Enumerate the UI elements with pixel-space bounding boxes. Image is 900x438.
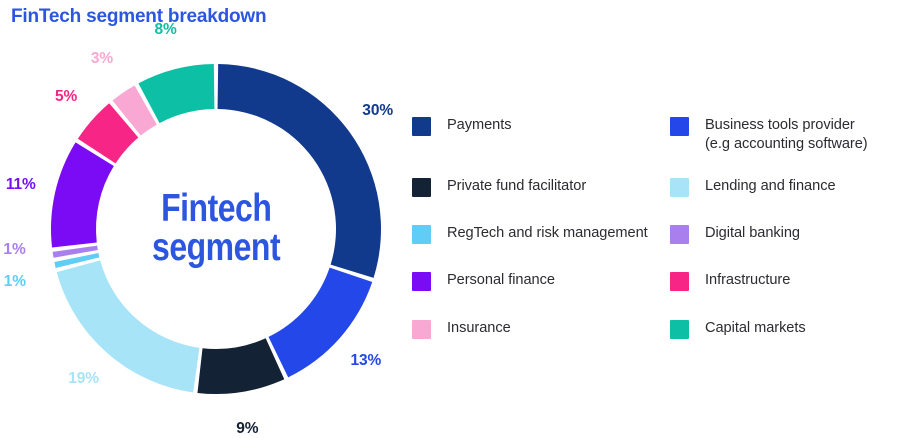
- legend-color-swatch: [412, 272, 431, 291]
- donut-slice[interactable]: [218, 64, 381, 278]
- legend-item-label: Insurance: [447, 319, 511, 338]
- legend-color-swatch: [412, 117, 431, 136]
- donut-chart: Fintech segment 30%13%9%19%1%1%11%5%3%8%: [48, 58, 384, 400]
- legend-item[interactable]: Infrastructure: [670, 271, 894, 291]
- slice-percentage-label: 30%: [362, 102, 393, 120]
- slice-percentage-label: 5%: [55, 88, 77, 106]
- slice-percentage-label: 8%: [155, 21, 177, 39]
- legend-item-label: Digital banking: [705, 224, 800, 243]
- legend-item-label: Business tools provider(e.g accounting s…: [705, 116, 868, 154]
- slice-percentage-label: 11%: [6, 176, 36, 194]
- legend-item-label: Lending and finance: [705, 177, 836, 196]
- legend-item-label: Private fund facilitator: [447, 177, 586, 196]
- legend-color-swatch: [670, 320, 689, 339]
- legend-item[interactable]: Personal finance: [412, 271, 662, 291]
- legend-color-swatch: [412, 178, 431, 197]
- slice-percentage-label: 1%: [3, 241, 25, 259]
- donut-slice[interactable]: [197, 338, 284, 394]
- legend-color-swatch: [670, 272, 689, 291]
- legend-item-label: RegTech and risk management: [447, 224, 648, 243]
- legend-item[interactable]: Private fund facilitator: [412, 177, 662, 197]
- legend-item[interactable]: RegTech and risk management: [412, 224, 662, 244]
- legend-item[interactable]: Digital banking: [670, 224, 894, 244]
- chart-legend: PaymentsPrivate fund facilitatorRegTech …: [412, 116, 894, 358]
- legend-item[interactable]: Capital markets: [670, 319, 894, 339]
- legend-item[interactable]: Insurance: [412, 319, 662, 339]
- donut-slices: [51, 64, 381, 394]
- donut-svg: [48, 58, 384, 400]
- slice-percentage-label: 9%: [236, 420, 258, 438]
- legend-item-label: Payments: [447, 116, 512, 135]
- legend-color-swatch: [670, 225, 689, 244]
- legend-color-swatch: [670, 178, 689, 197]
- donut-slice[interactable]: [51, 142, 114, 247]
- slice-percentage-label: 19%: [68, 370, 99, 388]
- legend-item[interactable]: Lending and finance: [670, 177, 894, 197]
- slice-percentage-label: 1%: [4, 273, 26, 291]
- legend-item[interactable]: Business tools provider(e.g accounting s…: [670, 116, 894, 154]
- slice-percentage-label: 3%: [91, 50, 113, 68]
- legend-item-label: Capital markets: [705, 319, 806, 338]
- legend-color-swatch: [412, 320, 431, 339]
- slice-percentage-label: 13%: [351, 352, 382, 370]
- legend-color-swatch: [670, 117, 689, 136]
- page-title: FinTech segment breakdown: [11, 6, 266, 28]
- legend-item-label: Infrastructure: [705, 271, 790, 290]
- legend-item-label: Personal finance: [447, 271, 555, 290]
- legend-item[interactable]: Payments: [412, 116, 662, 136]
- legend-color-swatch: [412, 225, 431, 244]
